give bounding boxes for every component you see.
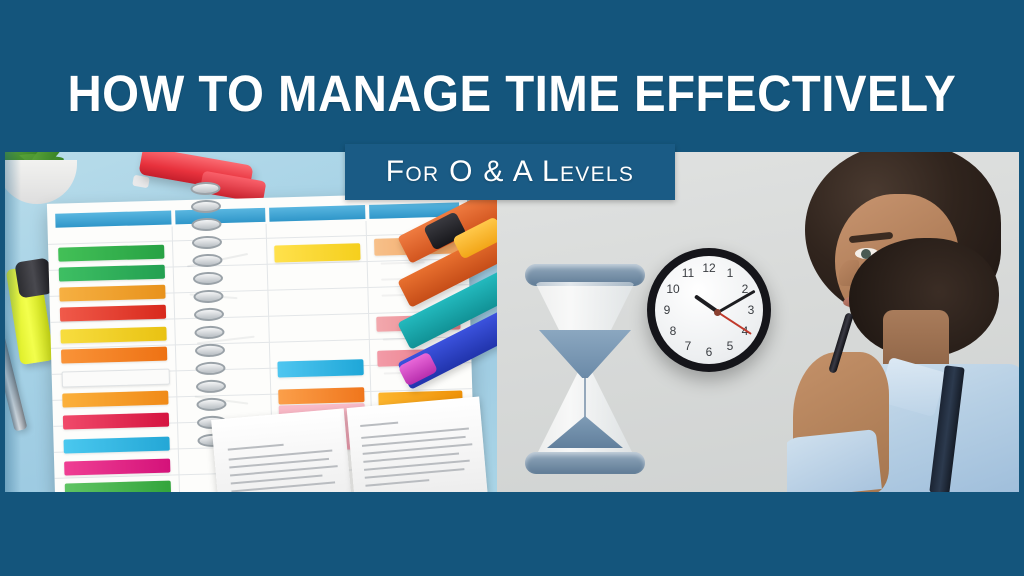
shirt-sleeve xyxy=(787,429,882,492)
clock-number: 11 xyxy=(680,266,696,280)
hourglass-sand-stream xyxy=(584,376,586,420)
planner-sticker xyxy=(59,265,165,282)
planner-sticker xyxy=(58,245,164,262)
book-page-right xyxy=(347,397,488,492)
planner-sticker xyxy=(65,481,171,492)
planner-sticker xyxy=(64,459,170,476)
clock-number: 6 xyxy=(701,345,717,359)
planner-sticker xyxy=(59,285,165,302)
planner-sticker xyxy=(62,369,170,388)
hourglass-bottom-cap xyxy=(525,452,645,474)
hourglass-sand-top xyxy=(539,330,631,378)
hourglass xyxy=(525,264,645,474)
clock-number: 7 xyxy=(680,339,696,353)
banner-graphic: HOW TO MANAGE TIME EFFECTIVELY For O & A… xyxy=(0,0,1024,576)
title-block: HOW TO MANAGE TIME EFFECTIVELY xyxy=(0,66,1024,122)
planner-column-header xyxy=(55,210,171,227)
edge-shade xyxy=(5,152,21,492)
planner-sticker xyxy=(60,327,166,344)
clock-number: 9 xyxy=(659,303,675,317)
planner-sticker xyxy=(60,305,166,322)
planner-sticker xyxy=(61,347,167,364)
clock-number: 5 xyxy=(722,339,738,353)
planner-sticker xyxy=(63,413,169,430)
planner-sticker xyxy=(278,387,364,404)
clock-number: 12 xyxy=(701,261,717,275)
book-page-left xyxy=(211,408,352,492)
planner-sticker xyxy=(62,391,168,408)
clock-number: 8 xyxy=(665,324,681,338)
notebook-stack xyxy=(397,206,497,386)
clock-number: 3 xyxy=(743,303,759,317)
subtitle-text: For O & A Levels xyxy=(386,155,634,189)
planner-sticker xyxy=(277,359,363,377)
subtitle-badge: For O & A Levels xyxy=(345,144,675,200)
clock-face: 12 1 2 3 4 5 6 7 8 9 10 11 xyxy=(655,256,763,364)
page-title: HOW TO MANAGE TIME EFFECTIVELY xyxy=(68,66,957,122)
hourglass-clock-student-photo: 12 1 2 3 4 5 6 7 8 9 10 11 xyxy=(497,152,1019,492)
planner-sticker xyxy=(274,243,360,262)
clock-number: 1 xyxy=(722,266,738,280)
clock-number: 10 xyxy=(665,282,681,296)
planner-sticker xyxy=(63,437,169,454)
student-thinking xyxy=(787,152,1019,492)
clock-center-pin xyxy=(714,309,721,316)
study-desk-planner-photo xyxy=(5,152,497,492)
photo-strip: 12 1 2 3 4 5 6 7 8 9 10 11 xyxy=(5,152,1019,492)
planner-column-header xyxy=(269,205,365,222)
wall-clock: 12 1 2 3 4 5 6 7 8 9 10 11 xyxy=(647,248,771,372)
